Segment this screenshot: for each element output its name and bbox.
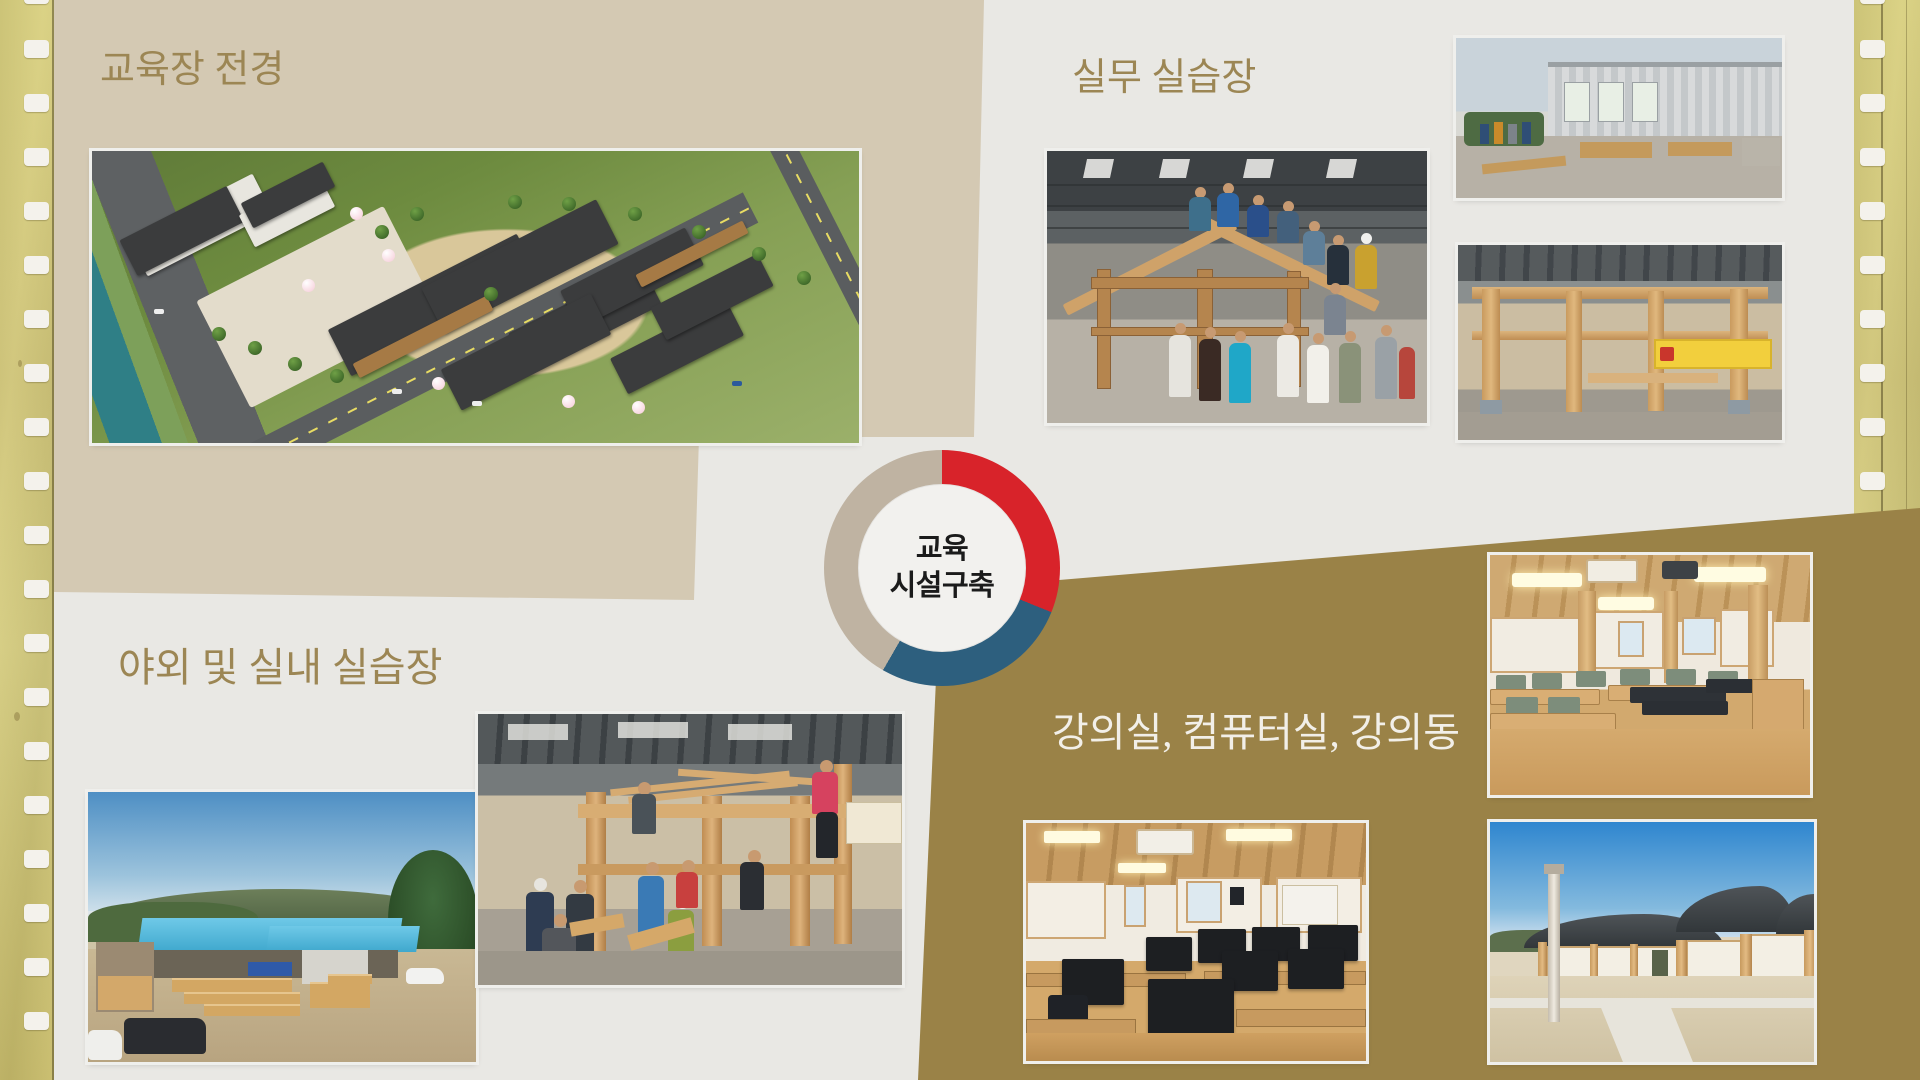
left-filmstrip: [0, 0, 54, 1080]
section-heading-practical: 실무 실습장: [1072, 46, 1256, 101]
indoor-assembly-photo: [478, 714, 902, 985]
classroom-photo: [1490, 555, 1810, 795]
left-sprocket-holes: [24, 0, 49, 1030]
aerial-masterplan-photo: [92, 151, 859, 443]
outdoor-yard-photo: [88, 792, 476, 1062]
warehouse-exterior-photo: [1456, 38, 1782, 198]
lecture-hall-exterior-photo: [1490, 822, 1814, 1062]
donut-hub: 교육 시설구축: [858, 484, 1026, 652]
badge-line-2: 시설구축: [890, 568, 995, 605]
film-speckle-icon: [14, 712, 20, 721]
hall-interior-photo: [1458, 245, 1782, 440]
badge-line-1: 교육: [916, 531, 968, 568]
donut-badge: 교육 시설구축: [824, 450, 1060, 686]
film-speckle-icon: [18, 360, 22, 367]
workshop-group-photo: [1047, 151, 1427, 423]
section-heading-classroom: 강의실, 컴퓨터실, 강의동: [1052, 700, 1460, 758]
slide-canvas: S A F E T Y F I L M A 교육장 전경: [0, 0, 1920, 1080]
section-heading-outdoor: 야외 및 실내 실습장: [118, 635, 442, 693]
section-heading-overview: 교육장 전경: [100, 38, 284, 93]
computer-room-photo: [1026, 823, 1366, 1061]
